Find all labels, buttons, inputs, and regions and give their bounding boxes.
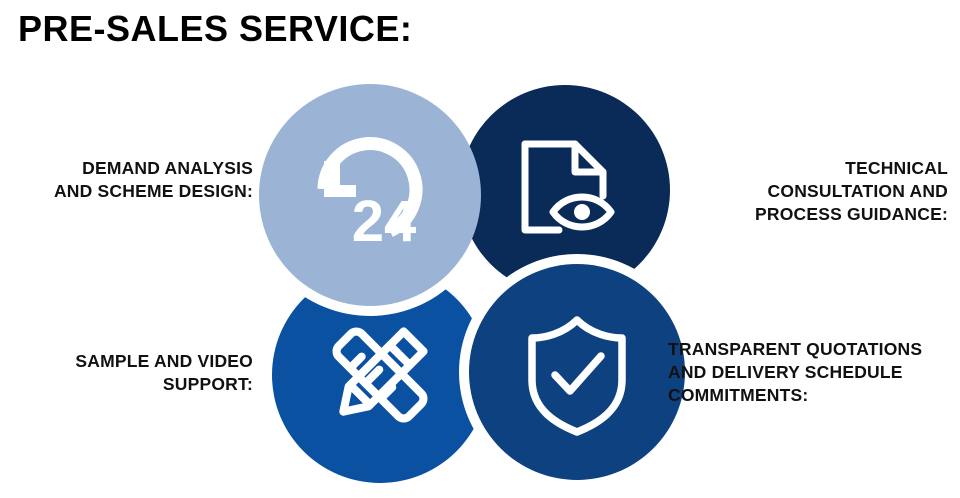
page-title: PRE-SALES SERVICE:	[18, 8, 412, 50]
label-sample-video-support: SAMPLE AND VIDEO SUPPORT:	[10, 350, 253, 396]
label-transparent-quotations: TRANSPARENT QUOTATIONS AND DELIVERY SCHE…	[668, 338, 958, 407]
circle-top-right[interactable]	[460, 85, 670, 295]
circle-top-left[interactable]: 24	[259, 84, 481, 306]
label-demand-analysis: DEMAND ANALYSIS AND SCHEME DESIGN:	[10, 157, 253, 203]
24-hour-icon-text: 24	[352, 189, 417, 254]
circle-bottom-right[interactable]	[469, 264, 685, 480]
infographic-canvas: PRE-SALES SERVICE:	[0, 0, 960, 498]
venn-circle-cluster: 24	[255, 70, 705, 495]
label-technical-consultation: TECHNICAL CONSULTATION AND PROCESS GUIDA…	[690, 157, 948, 226]
